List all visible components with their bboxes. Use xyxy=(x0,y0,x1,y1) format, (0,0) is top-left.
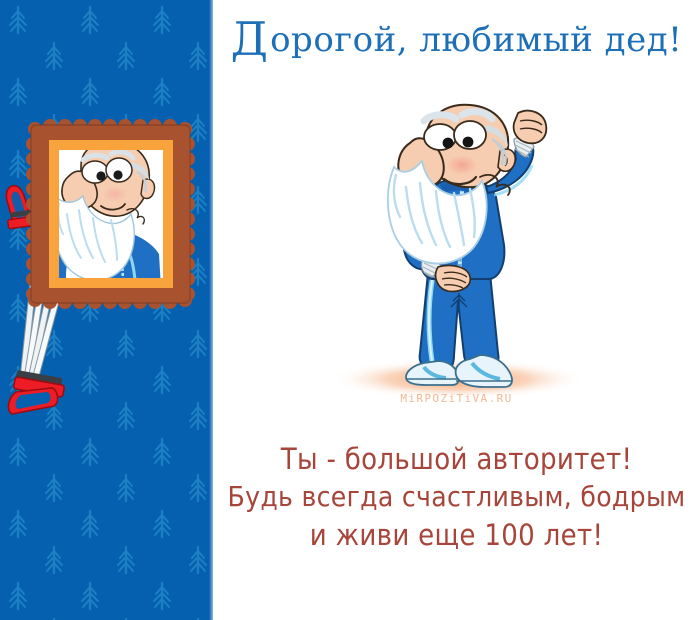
message-line-1: Ты - большой авторитет! xyxy=(213,440,700,478)
message-line-3: и живи еще 100 лет! xyxy=(213,516,700,554)
grandfather-illustration xyxy=(328,95,588,405)
left-decorative-panel xyxy=(0,0,213,620)
card-message: Ты - большой авторитет! Будь всегда счас… xyxy=(213,440,700,554)
framed-portrait xyxy=(23,118,198,310)
greeting-card: Дорогой, любимый дед! xyxy=(0,0,700,620)
title-rest: орогой, любимый дед! xyxy=(270,20,682,60)
raised-fist xyxy=(514,111,547,144)
expander-bottom-handle xyxy=(9,370,65,414)
watermark: MiRPOZiTiVA.RU xyxy=(213,392,700,405)
title-drop-cap: Д xyxy=(231,12,270,66)
card-content-area: Дорогой, любимый дед! xyxy=(213,0,700,620)
message-line-2: Будь всегда счастливым, бодрым xyxy=(213,478,700,516)
card-title: Дорогой, любимый дед! xyxy=(213,20,700,60)
